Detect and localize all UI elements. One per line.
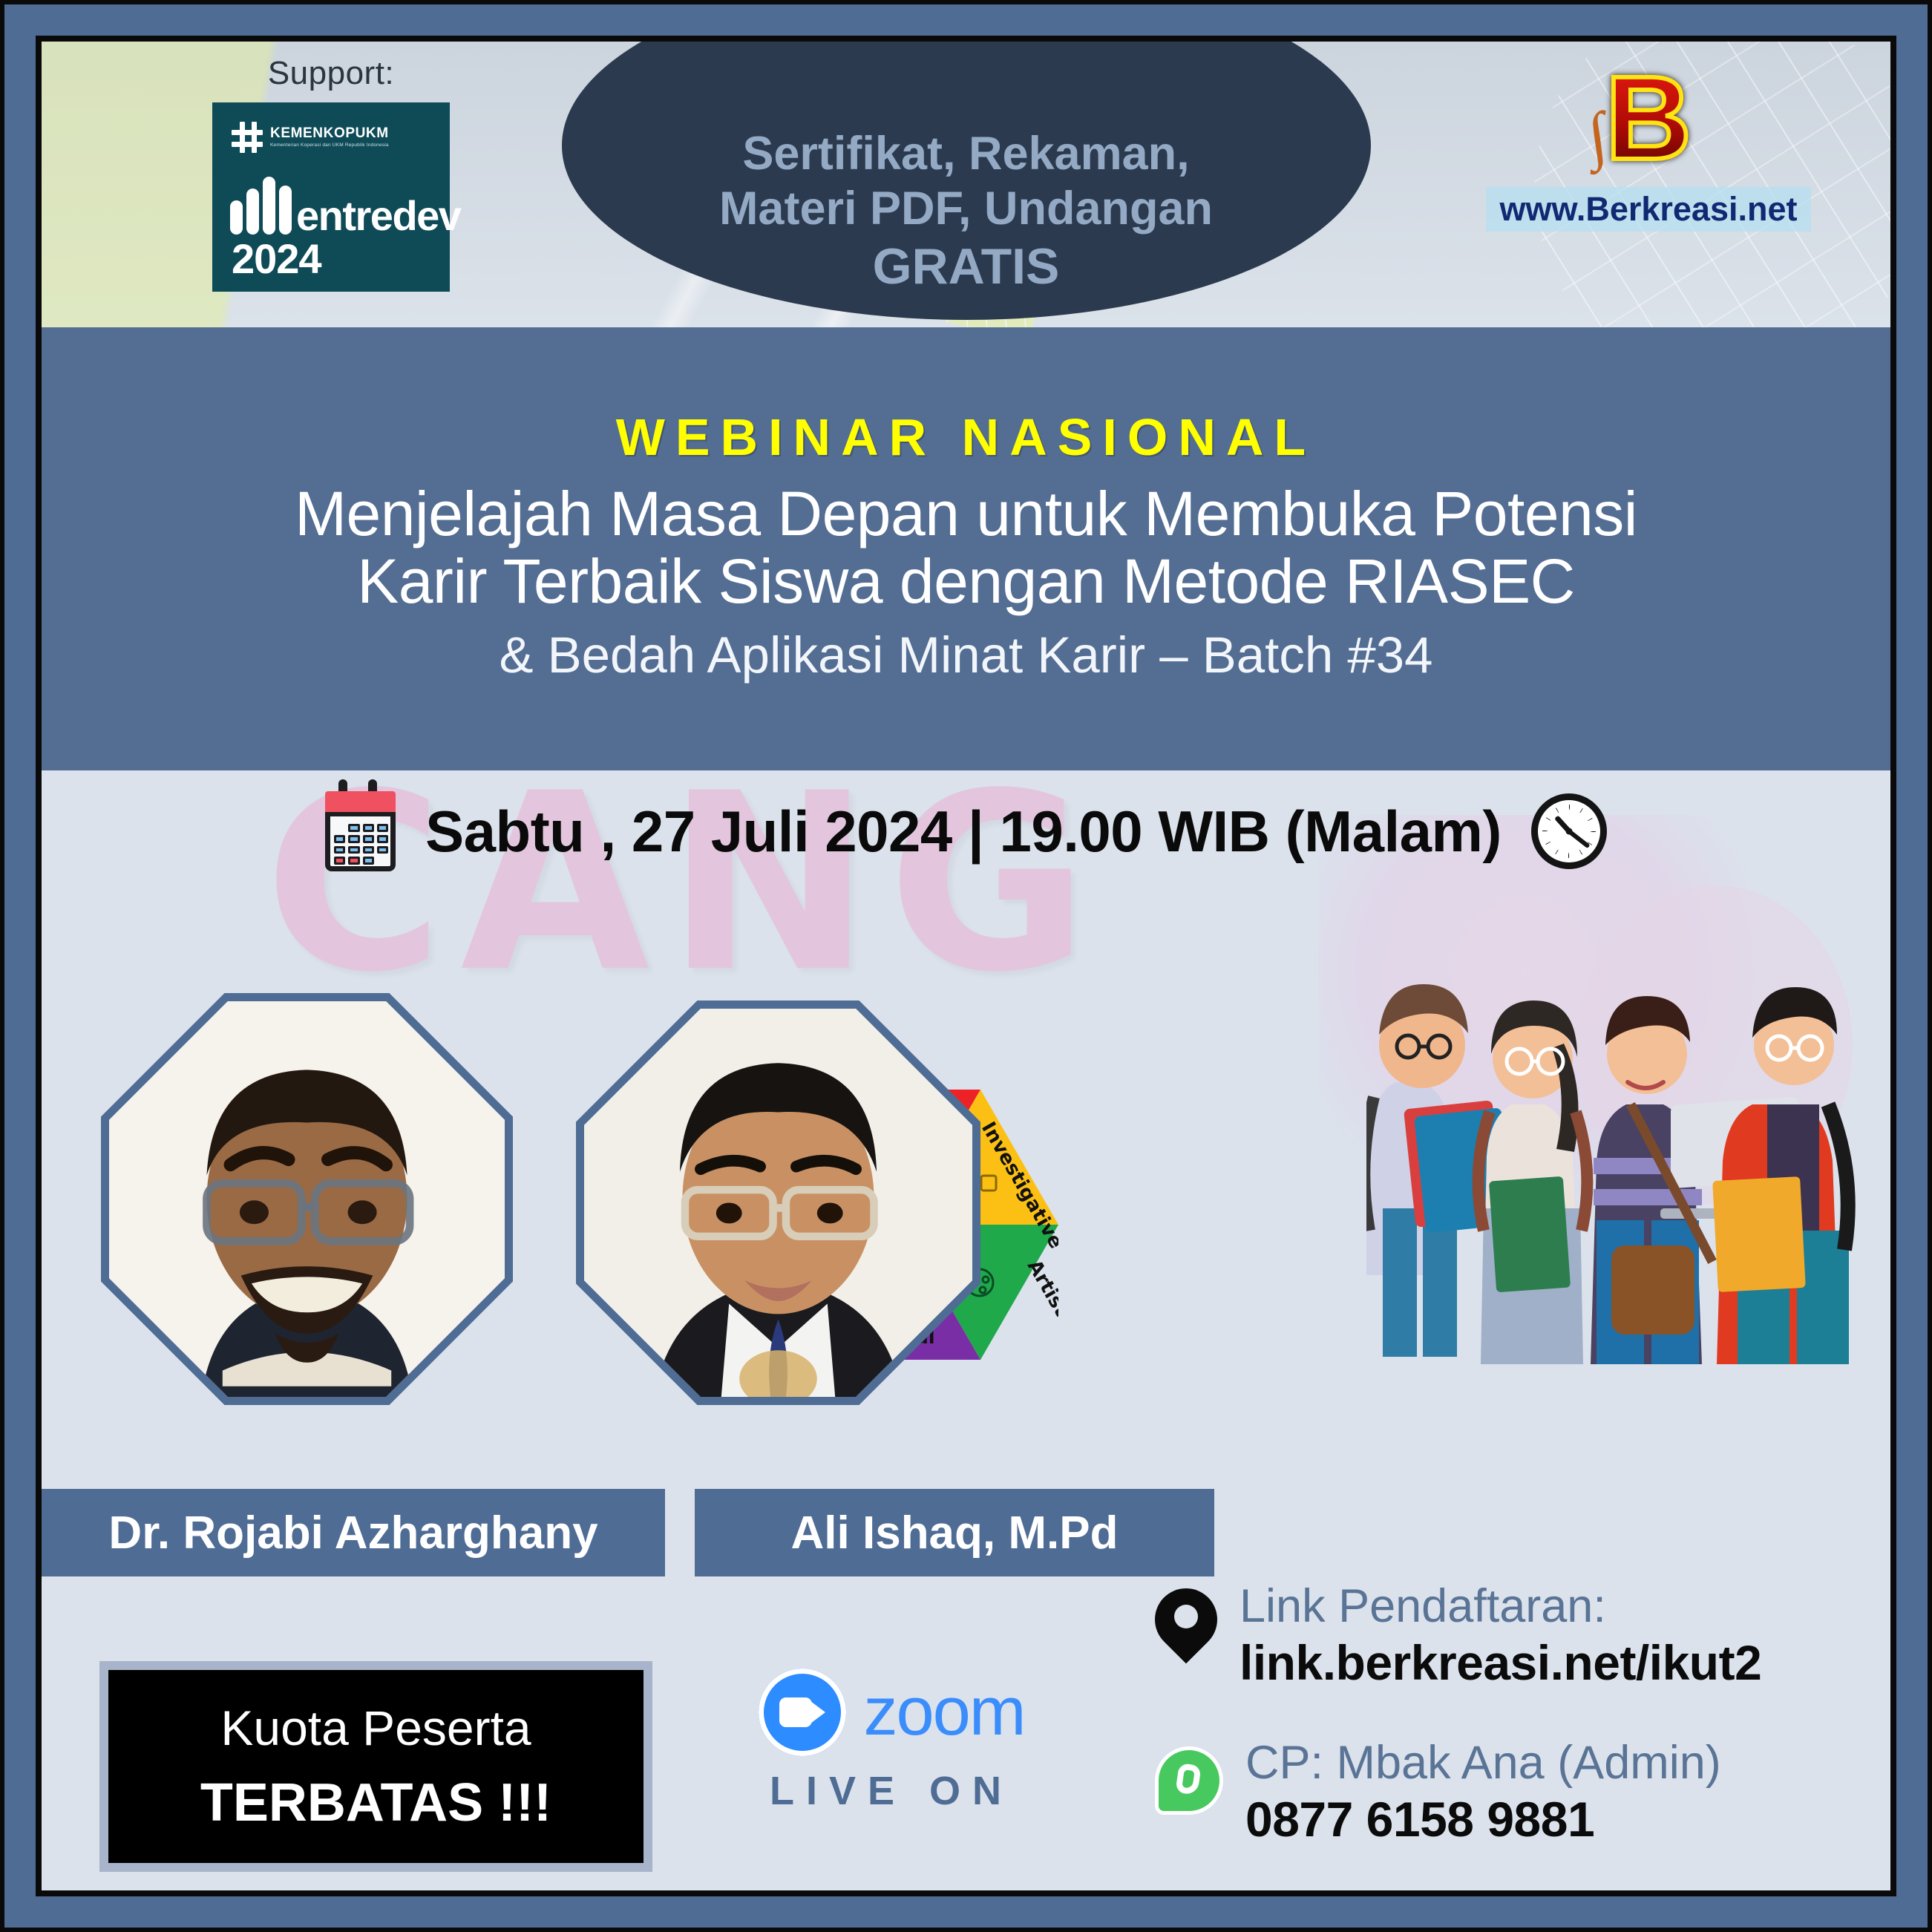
calendar-icon	[325, 791, 396, 871]
event-title-line-2: Karir Terbaik Siswa dengan Metode RIASEC	[357, 548, 1575, 615]
berkreasi-website-url[interactable]: www.Berkreasi.net	[1486, 187, 1810, 232]
hash-icon	[232, 122, 263, 153]
poster-inner-frame: Support: KEMENKOPUKM Kementerian Koperas…	[36, 36, 1896, 1896]
kemenkopukm-name: KEMENKOPUKM	[270, 126, 389, 141]
kemenkopukm-logo: KEMENKOPUKM Kementerian Koperasi dan UKM…	[232, 122, 389, 153]
speaker-name-1: Dr. Rojabi Azharghany	[108, 1507, 597, 1559]
speaker-name-2: Ali Ishaq, M.Pd	[791, 1507, 1119, 1559]
poster-header: Support: KEMENKOPUKM Kementerian Koperas…	[42, 42, 1890, 327]
berkreasi-branding: ∫ B www.Berkreasi.net	[1478, 62, 1819, 232]
gratis-line-2: Materi PDF, Undangan	[719, 181, 1213, 236]
berkreasi-logo-icon: ∫ B	[1593, 62, 1704, 181]
live-on-label: LIVE ON	[695, 1768, 1088, 1814]
clock-icon	[1531, 793, 1607, 869]
entredev-logo-card: KEMENKOPUKM Kementerian Koperasi dan UKM…	[212, 102, 450, 292]
quota-warning-box: Kuota Peserta TERBATAS !!!	[99, 1661, 652, 1872]
quota-line-2: TERBATAS !!!	[200, 1772, 551, 1833]
entredev-bars-icon	[230, 177, 292, 235]
support-block: Support: KEMENKOPUKM Kementerian Koperas…	[138, 55, 524, 292]
contact-person-label: CP: Mbak Ana (Admin)	[1245, 1736, 1890, 1789]
whatsapp-icon	[1155, 1746, 1223, 1815]
speaker-photo-2	[576, 1001, 980, 1405]
whatsapp-row[interactable]: CP: Mbak Ana (Admin) 0877 6158 9881	[1155, 1736, 1890, 1850]
speaker-photo-2-image	[584, 1009, 972, 1397]
schedule-text: Sabtu , 27 Juli 2024 | 19.00 WIB (Malam)	[425, 798, 1502, 865]
event-subtitle: & Bedah Aplikasi Minat Karir – Batch #34	[499, 626, 1432, 684]
kemenkopukm-text: KEMENKOPUKM Kementerian Koperasi dan UKM…	[270, 126, 389, 148]
speaker-photo-1-image	[109, 1001, 505, 1397]
entredev-brand-text: entredev	[296, 197, 460, 235]
zoom-camera-icon	[759, 1669, 846, 1756]
event-kicker: WEBINAR NASIONAL	[616, 407, 1316, 467]
schedule-row: Sabtu , 27 Juli 2024 | 19.00 WIB (Malam)	[42, 791, 1890, 871]
registration-row[interactable]: Link Pendaftaran: link.berkreasi.net/iku…	[1155, 1579, 1890, 1693]
berkreasi-letter: B	[1593, 62, 1704, 174]
event-title-line-1: Menjelajah Masa Depan untuk Membuka Pote…	[295, 480, 1637, 548]
students-illustration	[1366, 859, 1886, 1364]
zoom-wordmark: zoom	[864, 1680, 1025, 1744]
speaker-photo-1	[101, 993, 513, 1405]
gratis-line-3: GRATIS	[873, 237, 1060, 296]
location-pin-icon	[1155, 1588, 1217, 1670]
webinar-poster: Support: KEMENKOPUKM Kementerian Koperas…	[0, 0, 1932, 1932]
contact-person-number[interactable]: 0877 6158 9881	[1245, 1789, 1890, 1850]
entredev-year: 2024	[232, 235, 321, 283]
contact-block: Link Pendaftaran: link.berkreasi.net/iku…	[1155, 1579, 1890, 1890]
entredev-wordmark: entredev	[230, 177, 460, 235]
poster-body: CANG Sabtu , 27 Juli 2024 | 19.00 WIB (M…	[42, 770, 1890, 1890]
quota-line-1: Kuota Peserta	[220, 1700, 531, 1756]
svg-text:Artistic: Artistic	[1023, 1257, 1058, 1336]
kemenkopukm-subtitle: Kementerian Koperasi dan UKM Republik In…	[270, 143, 389, 148]
title-band: WEBINAR NASIONAL Menjelajah Masa Depan u…	[42, 327, 1890, 770]
gratis-line-1: Sertifikat, Rekaman,	[742, 126, 1189, 181]
speaker-name-plate-1: Dr. Rojabi Azharghany	[42, 1489, 665, 1576]
registration-link[interactable]: link.berkreasi.net/ikut2	[1240, 1633, 1890, 1693]
speaker-name-plate-2: Ali Ishaq, M.Pd	[695, 1489, 1214, 1576]
zoom-platform-block: zoom LIVE ON	[695, 1669, 1088, 1814]
zoom-logo: zoom	[695, 1669, 1088, 1756]
support-label: Support:	[138, 55, 524, 92]
registration-label: Link Pendaftaran:	[1240, 1579, 1890, 1633]
